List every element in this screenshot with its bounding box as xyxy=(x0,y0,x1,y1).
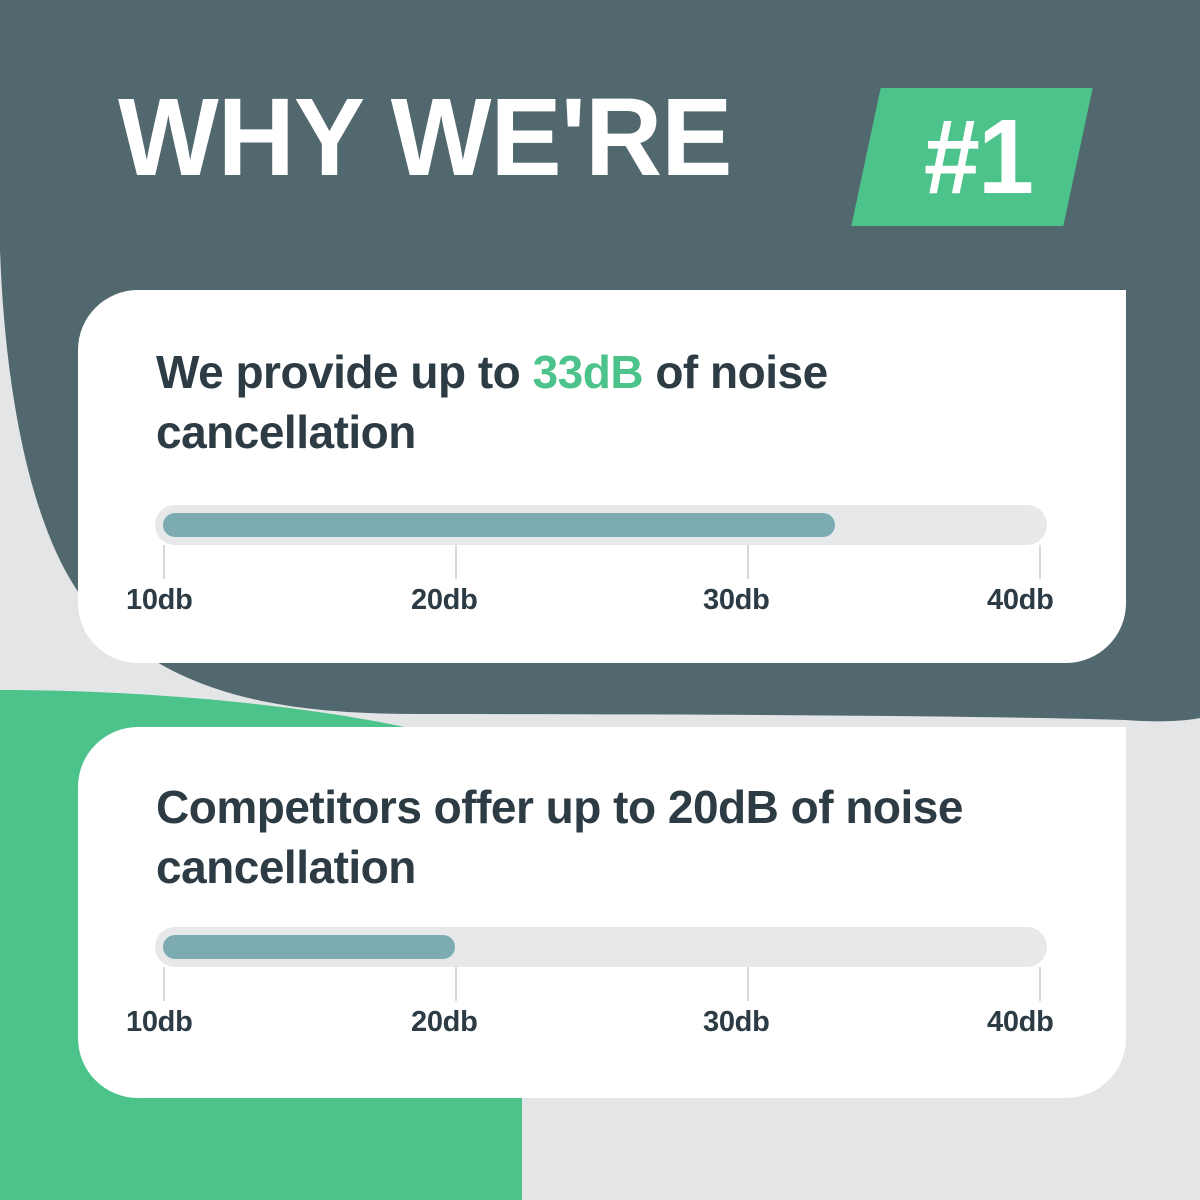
card-title-prefix: We provide up to xyxy=(156,346,533,398)
page-title: WHY WE'RE xyxy=(118,83,750,193)
tick-line xyxy=(163,545,165,579)
rank-badge-label: #1 xyxy=(893,92,1064,222)
tick-label: 30db xyxy=(703,579,770,621)
tick-line xyxy=(747,967,749,1001)
tick-line xyxy=(455,967,457,1001)
tick-label: 20db xyxy=(411,1001,478,1043)
meter-fill xyxy=(163,935,455,959)
meter-track[interactable] xyxy=(155,505,1047,545)
meter-ticks: 10db 20db 30db 40db xyxy=(155,545,1047,621)
card-title-highlight: 33dB xyxy=(533,346,643,398)
card-our-product: We provide up to 33dB of noise cancellat… xyxy=(78,290,1126,663)
tick-line xyxy=(163,967,165,1001)
meter-fill xyxy=(163,513,835,537)
headline-text: WHY WE'RE xyxy=(118,83,731,193)
tick-line xyxy=(455,545,457,579)
card-title-prefix: Competitors offer up to 20dB of noise ca… xyxy=(156,781,963,893)
tick-label: 40db xyxy=(987,579,1054,621)
meter-track[interactable] xyxy=(155,927,1047,967)
tick-line xyxy=(1039,545,1041,579)
card-competitors: Competitors offer up to 20dB of noise ca… xyxy=(78,727,1126,1098)
card-title: Competitors offer up to 20dB of noise ca… xyxy=(156,777,1056,897)
tick-label: 20db xyxy=(411,579,478,621)
tick-line xyxy=(1039,967,1041,1001)
tick-label: 10db xyxy=(126,1001,193,1043)
card-title: We provide up to 33dB of noise cancellat… xyxy=(156,342,1056,462)
meter-competitors: 10db 20db 30db 40db xyxy=(155,927,1047,1043)
tick-label: 30db xyxy=(703,1001,770,1043)
meter-ticks: 10db 20db 30db 40db xyxy=(155,967,1047,1043)
tick-label: 40db xyxy=(987,1001,1054,1043)
poster-canvas: WHY WE'RE #1 We provide up to 33dB of no… xyxy=(0,0,1200,1200)
tick-label: 10db xyxy=(126,579,193,621)
tick-line xyxy=(747,545,749,579)
meter-our-product: 10db 20db 30db 40db xyxy=(155,505,1047,621)
